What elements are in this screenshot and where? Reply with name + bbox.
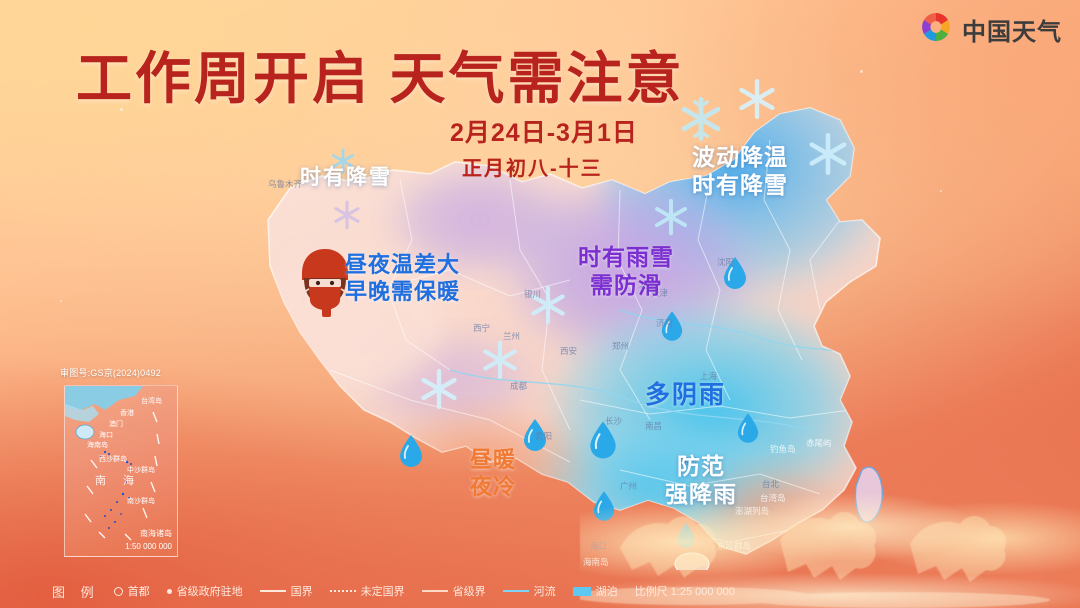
legend-label: 首都: [128, 583, 150, 599]
inset-island-label: 中沙群岛: [127, 465, 155, 475]
province-border-line-icon: [422, 590, 448, 592]
raindrop-icon: [592, 490, 616, 522]
legend-label: 国界: [291, 583, 313, 599]
page-title: 工作周开启 天气需注意: [76, 34, 685, 115]
city-label: 贵阳: [535, 430, 552, 442]
sparkle-dot: [940, 190, 942, 192]
legend-item-river: 河流: [503, 583, 556, 599]
callout-northwest: 时有降雪: [300, 165, 392, 191]
city-label: 郑州: [612, 340, 629, 352]
city-label: 南昌: [645, 420, 662, 432]
island-label: 钓鱼岛: [770, 443, 796, 455]
callout-line: 时有雨雪: [578, 243, 674, 271]
river-line-icon: [503, 590, 529, 592]
legend-item-lake: 湖泊: [573, 583, 618, 599]
city-label: 长沙: [605, 415, 622, 427]
inset-title: 南海诸岛: [140, 528, 172, 539]
callout-line: 夜冷: [470, 474, 516, 501]
city-label: 广州: [620, 480, 637, 492]
raindrop-icon: [736, 412, 760, 444]
callout-warm-cold: 昼暖夜冷: [470, 447, 516, 501]
inset-scale: 1:50 000 000: [125, 542, 172, 551]
city-label: 沈阳: [717, 256, 734, 268]
island-label: 台湾岛: [760, 492, 786, 504]
callout-temp-range: 昼夜温差大早晚需保暖: [345, 252, 460, 306]
callout-line: 时有降雪: [300, 165, 392, 191]
legend-item-undefined-border: 未定国界: [330, 583, 405, 599]
legend-label: 省级政府驻地: [177, 583, 243, 599]
legend-item-capital: 首都: [114, 583, 150, 599]
callout-heavy-rain: 防范强降雨: [665, 452, 737, 508]
lake-swatch-icon: [573, 587, 591, 596]
legend-item-province-seat: 省级政府驻地: [167, 583, 243, 599]
map-approval-code: 审图号:GS京(2024)0492: [60, 366, 161, 379]
city-label: 西安: [560, 345, 577, 357]
legend-label: 未定国界: [361, 583, 405, 599]
island-label: 澎湖列岛: [735, 505, 769, 517]
city-label: 成都: [510, 380, 527, 392]
capital-symbol-icon: [114, 587, 123, 596]
island-label: 赤尾屿: [806, 437, 832, 449]
city-label: 台北: [762, 478, 779, 490]
callout-northeast: 波动降温时有降雪: [692, 143, 788, 199]
raindrop-icon: [398, 434, 424, 468]
callout-line: 防范: [665, 452, 737, 480]
sparkle-dot: [60, 300, 62, 302]
date-range: 2月24日-3月1日: [450, 113, 638, 149]
inset-island-label: 海南岛: [87, 440, 108, 450]
inset-island-label: 海口: [99, 430, 113, 440]
legend-scale: 比例尺 1:25 000 000: [635, 583, 735, 599]
city-label: 兰州: [503, 330, 520, 342]
callout-line: 强降雨: [665, 480, 737, 508]
raindrop-icon: [676, 522, 696, 549]
snowflake-icon: [480, 340, 520, 380]
south-china-sea-inset: 南 海 南海诸岛 1:50 000 000 台湾岛香港澳门海口海南岛西沙群岛中沙…: [64, 385, 178, 557]
city-label: 济南: [656, 317, 673, 329]
sparkle-dot: [120, 108, 123, 111]
legend-label: 湖泊: [596, 583, 618, 599]
legend-header: 图 例: [52, 582, 100, 601]
hainan-island: [675, 553, 709, 570]
taiwan-island: [855, 467, 882, 522]
city-label: 西宁: [473, 322, 490, 334]
callout-line: 早晚需保暖: [345, 279, 460, 306]
weather-infographic: 乌鲁木齐银川西宁兰州西安郑州济南天津北京沈阳成都贵阳长沙南昌福州上海广州海口台北…: [0, 0, 1080, 608]
city-label: 乌鲁木齐: [268, 178, 302, 190]
city-label: 海口: [590, 540, 607, 552]
callout-line: 多阴雨: [645, 380, 726, 411]
inset-island-label: 澳门: [109, 419, 123, 429]
callout-line: 昼暖: [470, 447, 516, 474]
brand-name: 中国天气: [962, 12, 1062, 47]
legend-label: 省级界: [453, 583, 486, 599]
inset-island-label: 香港: [120, 408, 134, 418]
national-border-line-icon: [260, 590, 286, 592]
legend-item-province-border: 省级界: [422, 583, 486, 599]
inset-island-label: 南沙群岛: [127, 496, 155, 506]
brand-logo[interactable]: 中国天气: [919, 10, 1062, 49]
island-label: 东沙群岛: [717, 540, 751, 552]
snowflake-icon: [652, 198, 690, 236]
map-legend: 图 例 首都 省级政府驻地 国界 未定国界 省级界 河流 湖泊 比例尺: [0, 574, 1080, 608]
legend-label: 河流: [534, 583, 556, 599]
callout-line: 需防滑: [578, 271, 674, 299]
lunar-date: 正月初八-十三: [462, 152, 603, 181]
inset-island-label: 西沙群岛: [99, 454, 127, 464]
snowflake-icon: [806, 132, 850, 176]
sparkle-dot: [860, 70, 863, 73]
city-label: 银川: [524, 288, 541, 300]
snowflake-icon: [332, 200, 362, 230]
province-seat-symbol-icon: [167, 589, 172, 594]
callout-line: 时有降雪: [692, 171, 788, 199]
callout-mid-snow: 时有雨雪需防滑: [578, 243, 674, 299]
legend-item-national-border: 国界: [260, 583, 313, 599]
callout-line: 昼夜温差大: [345, 252, 460, 279]
callout-rainy: 多阴雨: [645, 380, 726, 411]
undefined-border-line-icon: [330, 590, 356, 592]
island-label: 海南岛: [583, 556, 609, 568]
sparkle-dot: [300, 62, 302, 64]
snowflake-icon: [736, 78, 778, 120]
snowflake-icon: [418, 368, 460, 410]
pinwheel-icon: [919, 10, 953, 49]
inset-island-label: 台湾岛: [141, 396, 162, 406]
callout-line: 波动降温: [692, 143, 788, 171]
